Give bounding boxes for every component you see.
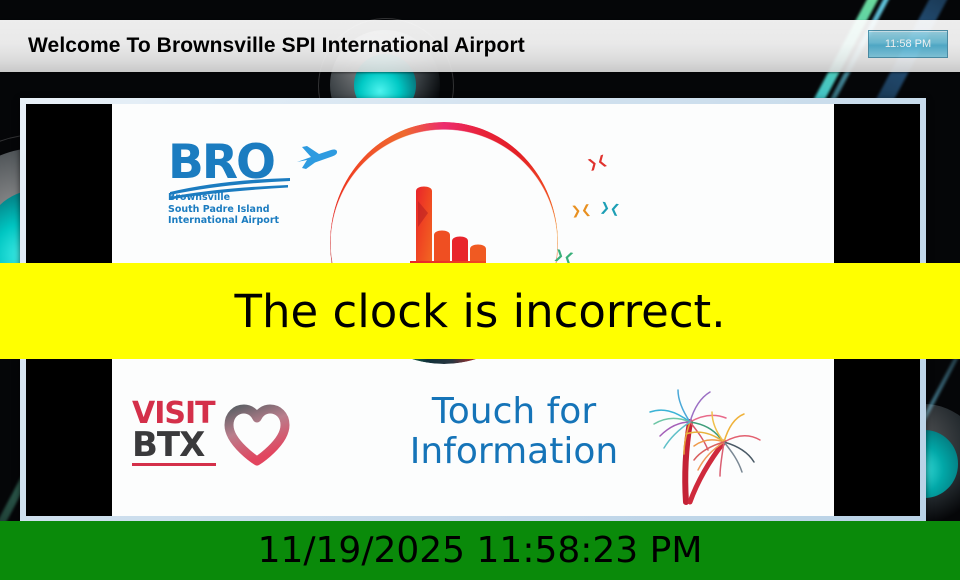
- cta-line-1: Touch for: [364, 392, 664, 432]
- alert-banner: The clock is incorrect.: [0, 263, 960, 359]
- bro-tagline-line-1: Brownsville: [168, 192, 323, 204]
- cta-line-2: Information: [364, 432, 664, 472]
- status-datetime: 11/19/2025 11:58:23 PM: [258, 530, 703, 571]
- bro-airport-logo: BRO Brownsville South Padre Island Inte: [168, 142, 323, 227]
- bro-logo-tagline: Brownsville South Padre Island Internati…: [168, 192, 323, 227]
- clock-badge[interactable]: 11:58 PM: [868, 30, 948, 58]
- status-footer: 11/19/2025 11:58:23 PM: [0, 521, 960, 580]
- touch-for-information-cta[interactable]: Touch for Information: [364, 392, 664, 473]
- bird-icon: ❯❮: [599, 201, 621, 216]
- bro-tagline-line-2: South Padre Island: [168, 204, 323, 216]
- alert-message: The clock is incorrect.: [234, 285, 725, 338]
- bird-icon: ❯❮: [586, 153, 609, 171]
- bro-tagline-line-3: International Airport: [168, 215, 323, 227]
- window-titlebar: Welcome To Brownsville SPI International…: [0, 20, 960, 72]
- heart-outline-icon: [224, 404, 290, 466]
- bird-icon: ❯❮: [570, 203, 591, 217]
- palm-trees-icon: [624, 376, 774, 508]
- visit-btx-logo: VISIT BTX: [132, 400, 372, 480]
- page-title: Welcome To Brownsville SPI International…: [28, 34, 525, 58]
